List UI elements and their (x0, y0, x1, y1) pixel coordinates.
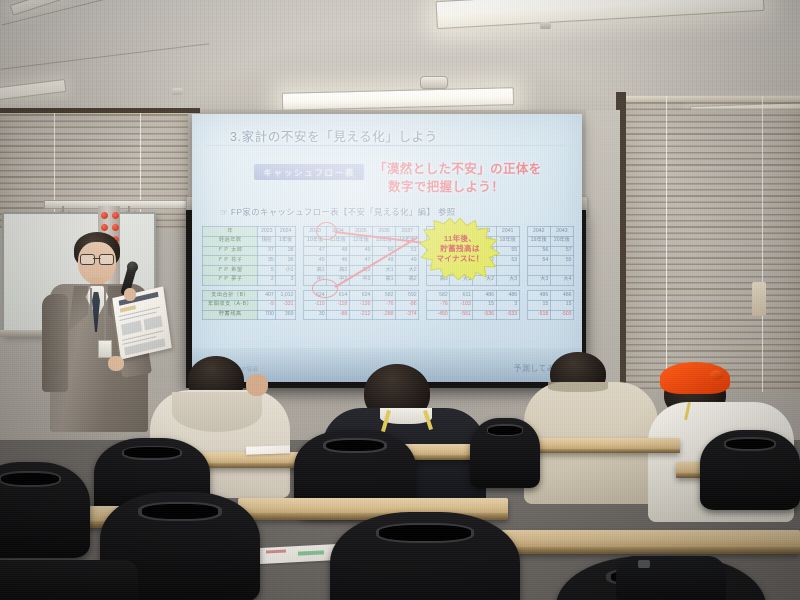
presentation-slide: 3.家計の不安を「見える化」しよう キャッシュフロー表 「漠然とした不安」の正体… (192, 114, 582, 382)
table-cell (550, 266, 573, 276)
table-row: ＦＰ 花子35364546474849505152535455 (203, 256, 574, 266)
presenter-hand (124, 288, 136, 301)
lanyard-strap (90, 288, 92, 342)
table-cell: 高2 (327, 266, 350, 276)
column-gap (519, 300, 527, 310)
presenter-hand (108, 356, 124, 371)
column-gap (419, 300, 427, 310)
table-cell: 49 (349, 246, 372, 256)
table-cell: -110 (304, 300, 327, 310)
table-cell: 2043 (550, 227, 573, 237)
table-cell: -212 (349, 310, 372, 320)
chair-front (0, 462, 90, 558)
row-label: 年間収支（A-B） (203, 300, 258, 310)
table-cell: 現在 (258, 236, 276, 246)
marker-dot-icon (112, 224, 119, 231)
slide-headline: 「漠然とした不安」の正体を 数字で把握しよう！ (374, 160, 570, 196)
table-cell: 2 (258, 275, 276, 285)
lanyard-strap (104, 288, 106, 342)
highlight-circle-year (316, 222, 337, 240)
table-cell: 15 (473, 300, 496, 310)
table-cell: 700 (258, 310, 276, 320)
table-row: 年間収支（A-B）-9-331-110-118-126-76-86-76-103… (203, 300, 574, 310)
blind-headrail (626, 96, 800, 102)
marker-dot-icon (112, 212, 119, 219)
column-gap (296, 310, 304, 320)
blind-frame (0, 108, 200, 113)
table-cell: 611 (450, 290, 473, 300)
callout-line-2: 貯蓄残高は (440, 244, 479, 254)
table-cell (527, 266, 550, 276)
table-cell: 1,012 (276, 290, 296, 300)
chair (470, 418, 540, 488)
slide-title: 3.家計の不安を「見える化」しよう (230, 126, 438, 145)
table-cell: 38 (276, 246, 296, 256)
eyeglasses-icon (80, 254, 114, 263)
table-cell: 2036 (372, 227, 395, 237)
table-cell: 35 (258, 256, 276, 266)
sprinkler-icon (172, 88, 183, 95)
table-cell: -86 (396, 300, 419, 310)
blind-cord[interactable] (140, 108, 141, 228)
table-row: ＦＰ 夢子23中1中2中3高1高2高3大1大2大3大3大4 (203, 275, 574, 285)
table-cell: 15 (527, 300, 550, 310)
row-label: ＦＰ 花子 (203, 256, 258, 266)
table-cell: -551 (450, 310, 473, 320)
table-row: ＦＰ 希望5小1高1高2高3大1大2大3大4 (203, 266, 574, 276)
table-cell: 369 (276, 310, 296, 320)
table-cell: 624 (349, 290, 372, 300)
table-cell: 2042 (527, 227, 550, 237)
callout-line-3: マイナスに！ (436, 254, 483, 264)
row-label: 貯蓄残高 (203, 310, 258, 320)
wall-segment (586, 110, 620, 390)
table-cell: 592 (396, 290, 419, 300)
table-cell: 49 (396, 256, 419, 266)
blind-cord[interactable] (762, 96, 763, 392)
table-cell: 2024 (276, 227, 296, 237)
chair-front (330, 512, 520, 600)
table-row: 年202320242033203420352036203720382039204… (203, 227, 574, 237)
table-cell: -103 (450, 300, 473, 310)
column-gap (519, 227, 527, 237)
column-gap (296, 275, 304, 285)
table-cell: 大4 (550, 275, 573, 285)
table-cell: 36 (276, 256, 296, 266)
window-blinds-left (0, 108, 188, 228)
subline-text: FP家のキャッシュフロー表【不安「見える化」編】 参照 (231, 207, 456, 217)
star-callout: 11年後、 貯蓄残高は マイナスに！ (418, 218, 502, 280)
blind-cord[interactable] (666, 96, 667, 392)
handout-paper (246, 445, 290, 455)
table-cell: 大1 (372, 266, 395, 276)
handout-document (112, 286, 171, 359)
table-cell: 15 (550, 300, 573, 310)
table-cell: 2037 (396, 227, 419, 237)
table-cell: 20年後 (550, 236, 573, 246)
name-badge (98, 340, 112, 358)
table-cell: 57 (550, 246, 573, 256)
headline-line-1: 「漠然とした不安」の正体を (374, 162, 542, 176)
table-cell: 54 (527, 256, 550, 266)
bag-buckle-icon (638, 560, 650, 568)
cashflow-table: 年202320242033203420352036203720382039204… (202, 226, 574, 320)
sprinkler-icon (540, 22, 551, 29)
column-gap (296, 236, 304, 246)
column-gap (519, 290, 527, 300)
table-cell: -126 (349, 300, 372, 310)
table-cell: -88 (327, 310, 350, 320)
column-gap (519, 275, 527, 285)
chair (700, 430, 800, 510)
table-cell: 2023 (258, 227, 276, 237)
pointing-hand-icon: ☞ (220, 207, 228, 217)
table-cell: 12年後 (349, 236, 372, 246)
table-cell: 582 (372, 290, 395, 300)
table-cell: 55 (550, 256, 573, 266)
column-gap (296, 227, 304, 237)
table-cell: 486 (496, 290, 519, 300)
table-cell: -9 (258, 300, 276, 310)
desk-front (500, 530, 800, 554)
column-gap (419, 290, 427, 300)
table-cell: -331 (276, 300, 296, 310)
student-hand (246, 374, 268, 396)
slide-subline: ☞FP家のキャッシュフロー表【不安「見える化」編】 参照 (220, 206, 456, 218)
table-cell: 高2 (396, 275, 419, 285)
title-divider (206, 145, 566, 146)
smoke-detector-icon (420, 76, 448, 89)
polo-collar (548, 382, 608, 392)
column-gap (519, 246, 527, 256)
row-label: 年 (203, 227, 258, 237)
table-cell: 1年後 (276, 236, 296, 246)
row-label: ＦＰ 太郎 (203, 246, 258, 256)
table-cell: 45 (304, 256, 327, 266)
column-gap (296, 300, 304, 310)
table-cell: -450 (427, 310, 450, 320)
callout-line-1: 11年後、 (444, 234, 476, 244)
marker-dot-icon (101, 224, 108, 231)
column-gap (296, 246, 304, 256)
column-gap (519, 266, 527, 276)
student-khaki (524, 352, 664, 502)
row-label: ＦＰ 夢子 (203, 275, 258, 285)
column-gap (419, 310, 427, 320)
table-cell: 小1 (276, 266, 296, 276)
table-cell: -536 (473, 310, 496, 320)
table-cell: 486 (473, 290, 496, 300)
column-gap (296, 290, 304, 300)
marker-dot-icon (101, 212, 108, 219)
table-cell: 407 (258, 290, 276, 300)
table-cell: -533 (496, 310, 519, 320)
table-cell: 5 (258, 266, 276, 276)
column-gap (519, 256, 527, 266)
window-blinds-right (626, 96, 800, 392)
table-cell: 19年後 (527, 236, 550, 246)
presenter-left-arm (42, 294, 68, 392)
table-cell: -76 (427, 300, 450, 310)
table-cell: 3 (276, 275, 296, 285)
blind-tilt-wand[interactable] (752, 282, 766, 316)
table-cell: 56 (527, 246, 550, 256)
table-cell: 30 (304, 310, 327, 320)
table-cell: -374 (396, 310, 419, 320)
column-gap (519, 236, 527, 246)
table-cell: -76 (372, 300, 395, 310)
column-gap (296, 266, 304, 276)
table-cell: 大2 (396, 266, 419, 276)
table-cell: 大3 (527, 275, 550, 285)
table-cell: 48 (327, 246, 350, 256)
chair-foreground (0, 560, 138, 600)
star-callout-text: 11年後、 貯蓄残高は マイナスに！ (418, 218, 502, 280)
column-gap (519, 310, 527, 320)
table-cell: 46 (327, 256, 350, 266)
table-cell: 高1 (372, 275, 395, 285)
seminar-room-photo: 3.家計の不安を「見える化」しよう キャッシュフロー表 「漠然とした不安」の正体… (0, 0, 800, 600)
table-cell: 486 (527, 290, 550, 300)
table-cell: 37 (258, 246, 276, 256)
picture-rail (44, 200, 196, 209)
row-label: ＦＰ 希望 (203, 266, 258, 276)
bag (616, 556, 726, 600)
table-cell: -288 (372, 310, 395, 320)
table-cell: 486 (550, 290, 573, 300)
headline-line-2: 数字で把握しよう！ (374, 178, 570, 196)
projector-screen: 3.家計の不安を「見える化」しよう キャッシュフロー表 「漠然とした不安」の正体… (192, 114, 582, 382)
row-label: 支出合計（B） (203, 290, 258, 300)
row-label: 経過年数 (203, 236, 258, 246)
hoodie-hood (172, 392, 262, 432)
table-cell: -518 (527, 310, 550, 320)
table-cell: 3 (496, 300, 519, 310)
table-cell: 高1 (304, 266, 327, 276)
table-row: 貯蓄残高70036930-88-212-288-374-450-551-536-… (203, 310, 574, 320)
table-cell: -503 (550, 310, 573, 320)
cashflow-badge: キャッシュフロー表 (254, 164, 364, 180)
highlight-circle-savings (312, 279, 338, 298)
column-gap (296, 256, 304, 266)
table-cell: 47 (304, 246, 327, 256)
desk (520, 438, 680, 453)
table-cell: -118 (327, 300, 350, 310)
bandana-knot (710, 370, 723, 380)
table-cell: 582 (427, 290, 450, 300)
blind-cord[interactable] (54, 108, 55, 228)
table-row: 支出合計（B）4071,0126246146245825925826114864… (203, 290, 574, 300)
